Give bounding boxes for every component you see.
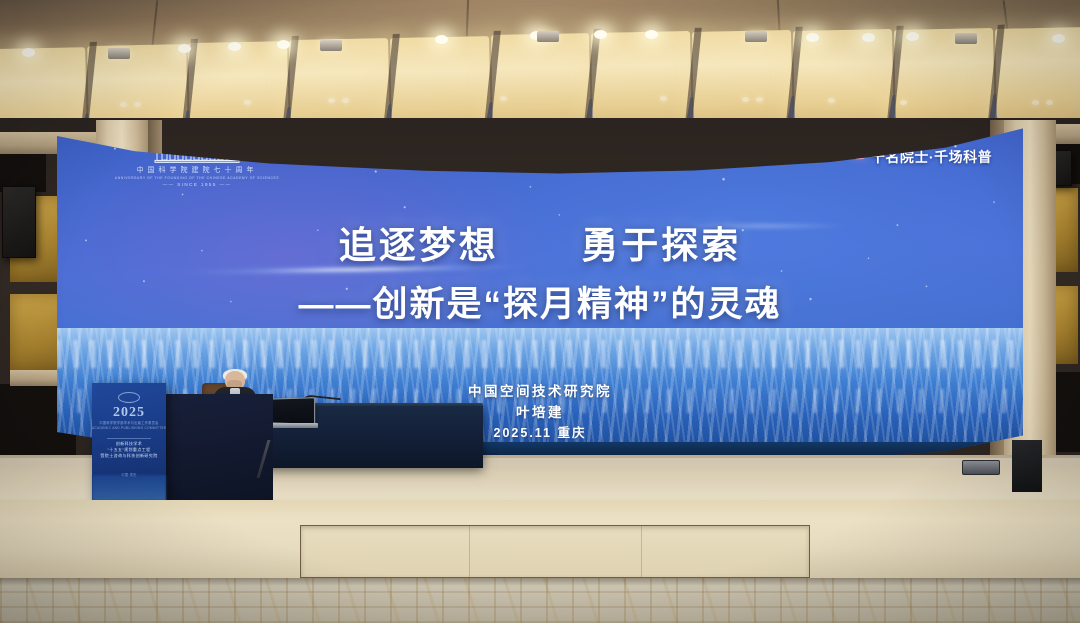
ceiling-downlight xyxy=(742,97,749,102)
ceiling-spotlight xyxy=(645,30,658,39)
banner-wave-graphic xyxy=(92,475,166,501)
carpet-shadow xyxy=(0,578,1080,586)
ceiling-spotlight xyxy=(277,40,290,49)
ceiling-downlight xyxy=(244,100,251,105)
table-front-panel xyxy=(166,394,273,501)
science-popularization-logo: S 科普中国 千名院士·千场科普 xyxy=(851,132,992,167)
banner-year: 2025 xyxy=(92,405,166,421)
ceiling-light-fixture xyxy=(745,31,767,42)
banner-line-3: 暨院士咨询与科技创新研究院 xyxy=(92,453,166,459)
academy-logo-since: SINCE 1955 xyxy=(100,182,293,187)
ceiling-spotlight xyxy=(178,44,191,53)
banner-divider xyxy=(107,438,151,439)
s-swoosh-icon: S xyxy=(851,135,868,165)
ceiling-spotlight xyxy=(228,42,241,51)
ceiling-downlight xyxy=(660,96,667,101)
presenter-laptop xyxy=(270,397,316,425)
academy-logo-cn: 中国科学院建院七十周年 xyxy=(100,165,293,175)
cove-light-panel xyxy=(793,29,894,127)
ceiling-downlight xyxy=(500,96,507,101)
headline-line-2: ——创新是“探月精神”的灵魂 xyxy=(57,276,1023,327)
cove-light-panel xyxy=(894,28,995,126)
ceiling-downlight xyxy=(756,97,763,102)
ceiling-downlight xyxy=(134,102,141,107)
ceiling-spotlight xyxy=(906,32,919,41)
stage-front-recessed-panel xyxy=(300,525,810,578)
ceiling-downlight xyxy=(1046,100,1053,105)
ceiling-spotlight xyxy=(806,33,819,42)
stage-equipment-box xyxy=(1012,440,1042,492)
cove-light-panel xyxy=(491,33,592,131)
conference-stage-photo: 中国科学院建院七十周年 ANNIVERSARY OF THE FOUNDING … xyxy=(0,0,1080,623)
ceiling-light-fixture xyxy=(108,48,130,59)
standing-banner: 2025 中国科学院学部学术与出版工作委员会 ACADEMIC AND PUBL… xyxy=(92,383,166,501)
cove-light-panel xyxy=(995,27,1080,125)
panel-seam xyxy=(469,526,470,577)
wave-foam xyxy=(57,340,1023,368)
ceiling-spotlight xyxy=(594,30,607,39)
headline-line-1: 追逐梦想 勇于探索 xyxy=(57,215,1023,269)
ceiling-downlight xyxy=(900,100,907,105)
ceiling-light-fixture xyxy=(537,31,559,42)
cove-light-panel xyxy=(591,31,692,129)
academy-building-icon xyxy=(151,137,243,163)
wall-mounted-loudspeaker xyxy=(2,186,36,258)
panel-seam xyxy=(641,526,642,577)
academy-logo: 中国科学院建院七十周年 ANNIVERSARY OF THE FOUNDING … xyxy=(100,137,293,187)
academy-logo-en: ANNIVERSARY OF THE FOUNDING OF THE CHINE… xyxy=(100,176,293,180)
equipment-road-case xyxy=(962,460,1000,475)
banner-subtitle-en: ACADEMIC AND PUBLISHING COMMITTEE xyxy=(92,426,166,431)
ceiling-downlight xyxy=(120,102,127,107)
ceiling-light-fixture xyxy=(955,33,977,44)
ceiling-spotlight xyxy=(862,33,875,42)
cove-light-panel xyxy=(692,30,793,128)
ceiling-spotlight xyxy=(22,48,35,57)
ceiling-downlight xyxy=(342,98,349,103)
ceiling-downlight xyxy=(328,98,335,103)
ceiling-spotlight xyxy=(435,35,448,44)
ceiling-spotlight xyxy=(1052,34,1065,43)
headline-part-2: 勇于探索 xyxy=(581,225,741,266)
ceiling-light-fixture xyxy=(320,40,342,51)
logo-main-label: 千名院士·千场科普 xyxy=(871,147,992,167)
headline-part-1: 追逐梦想 xyxy=(339,225,499,266)
oval-emblem-icon xyxy=(118,392,140,403)
logo-pill-label: 科普中国 xyxy=(881,132,933,147)
presentation-headline: 追逐梦想 勇于探索 ——创新是“探月精神”的灵魂 xyxy=(57,215,1023,327)
ceiling-downlight xyxy=(1032,100,1039,105)
ceiling-downlight xyxy=(828,98,835,103)
